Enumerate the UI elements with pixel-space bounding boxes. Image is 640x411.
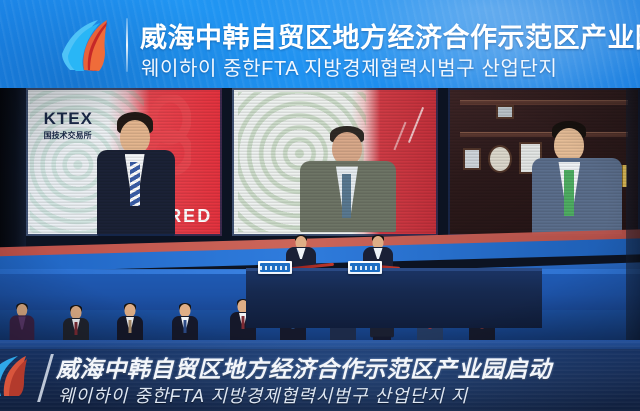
signing-table-left — [246, 268, 392, 328]
right-dark-edge — [626, 88, 640, 340]
bottom-banner-top-strip — [0, 340, 640, 349]
logo-title-divider — [126, 18, 128, 72]
ribbon-wave-logo-icon — [0, 354, 40, 398]
official-tie — [184, 320, 187, 333]
bottom-banner: 威海中韩自贸区地方经济合作示范区产业园启动 웨이하이 중한FTA 지방경제협력시… — [0, 340, 640, 411]
top-banner: 威海中韩自贸区地方经济合作示范区产业园 웨이하이 중한FTA 지방경제협력시범구… — [0, 0, 640, 88]
left-led-screen: KTEX国技术交易所 RED X — [26, 88, 222, 236]
table-top-edge — [392, 268, 542, 271]
ceremony-photo: KTEX国技术交易所 RED X — [0, 88, 640, 340]
banner-title-chinese: 威海中韩自贸区地方经济合作示范区产业园 — [140, 22, 632, 54]
official-tie — [129, 320, 132, 333]
banner-title-korean: 웨이하이 중한FTA 지방경제협력시범구 산업단지 — [141, 56, 633, 83]
center-screen-frame — [232, 88, 438, 236]
left-screen-frame — [26, 88, 222, 236]
center-led-screen — [232, 88, 438, 236]
placard-text-block — [350, 263, 380, 272]
placard-text-block — [260, 263, 290, 272]
bottom-banner-title-chinese: 威海中韩自贸区地方经济合作示范区产业园启动 — [56, 356, 640, 382]
right-screen-frame — [448, 88, 640, 236]
official-tie — [242, 316, 245, 329]
name-placard-left — [258, 261, 292, 274]
right-led-screen — [448, 88, 640, 236]
bottom-banner-title-korean: 웨이하이 중한FTA 지방경제협력시범구 산업단지 지 — [58, 385, 640, 407]
name-placard-right — [348, 261, 382, 274]
signing-table-right — [392, 268, 542, 328]
official-tie — [75, 322, 78, 335]
screenshot-root: 威海中韩自贸区地方经济合作示范区产业园 웨이하이 중한FTA 지방경제협력시범구… — [0, 0, 640, 411]
ribbon-wave-logo-icon — [54, 14, 116, 76]
